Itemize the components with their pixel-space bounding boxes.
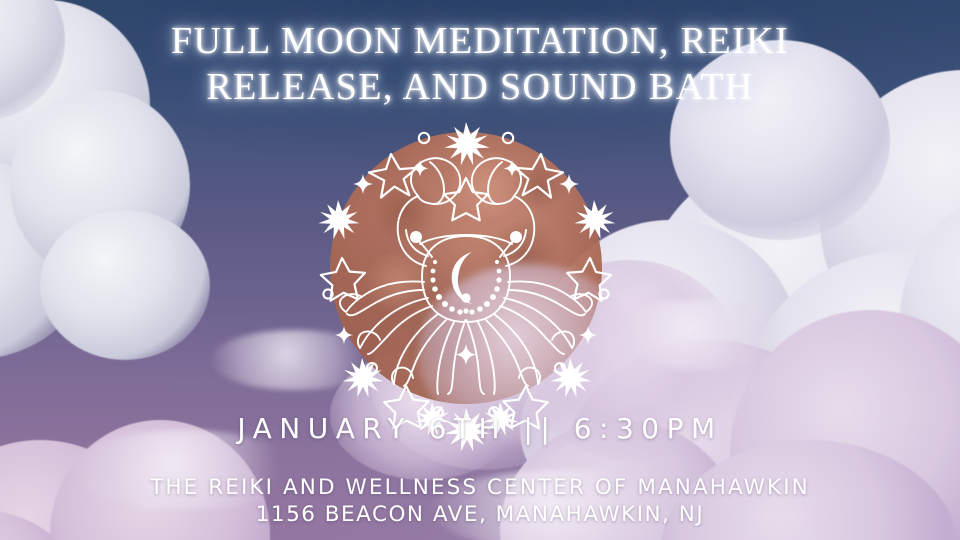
sparkle-icon [335, 160, 597, 365]
venue-address: 1156 BEACON AVE, MANAHAWKIN, NJ [0, 501, 960, 528]
cancer-zodiac-artwork [314, 116, 618, 420]
crab-leg-l3b [404, 320, 446, 386]
venue-name: THE REIKI AND WELLNESS CENTER OF MANAHAW… [0, 474, 960, 501]
crab-leg-r3b [486, 320, 528, 386]
crab-leg-r4b [468, 324, 484, 394]
flyer-title: FULL MOON MEDITATION, REIKI RELEASE, AND… [0, 18, 960, 110]
crab-leg-l2b [368, 306, 432, 354]
crab-shell-dot-arc [430, 260, 501, 315]
crab-shell-center-dots [461, 293, 470, 323]
event-venue: THE REIKI AND WELLNESS CENTER OF MANAHAW… [0, 474, 960, 528]
star-ring [318, 122, 615, 451]
crab-leg-l4b [448, 324, 464, 394]
event-datetime: JANUARY 6TH || 6:30PM [0, 412, 960, 445]
crab-eye-right [510, 231, 522, 243]
event-flyer: FULL MOON MEDITATION, REIKI RELEASE, AND… [0, 0, 960, 540]
moon-illustration [330, 132, 602, 404]
crab-leg-r2b [500, 306, 564, 354]
crab-claw-arm-right [506, 196, 534, 266]
crab-pincer-right-thumb [488, 162, 502, 204]
crab-eye-left [410, 231, 422, 243]
crab-claw-arm-left [398, 196, 426, 266]
crab-pincer-left-thumb [430, 162, 444, 204]
title-line-2: RELEASE, AND SOUND BATH [0, 64, 960, 110]
title-line-1: FULL MOON MEDITATION, REIKI [0, 18, 960, 64]
starburst-icon [318, 122, 615, 451]
